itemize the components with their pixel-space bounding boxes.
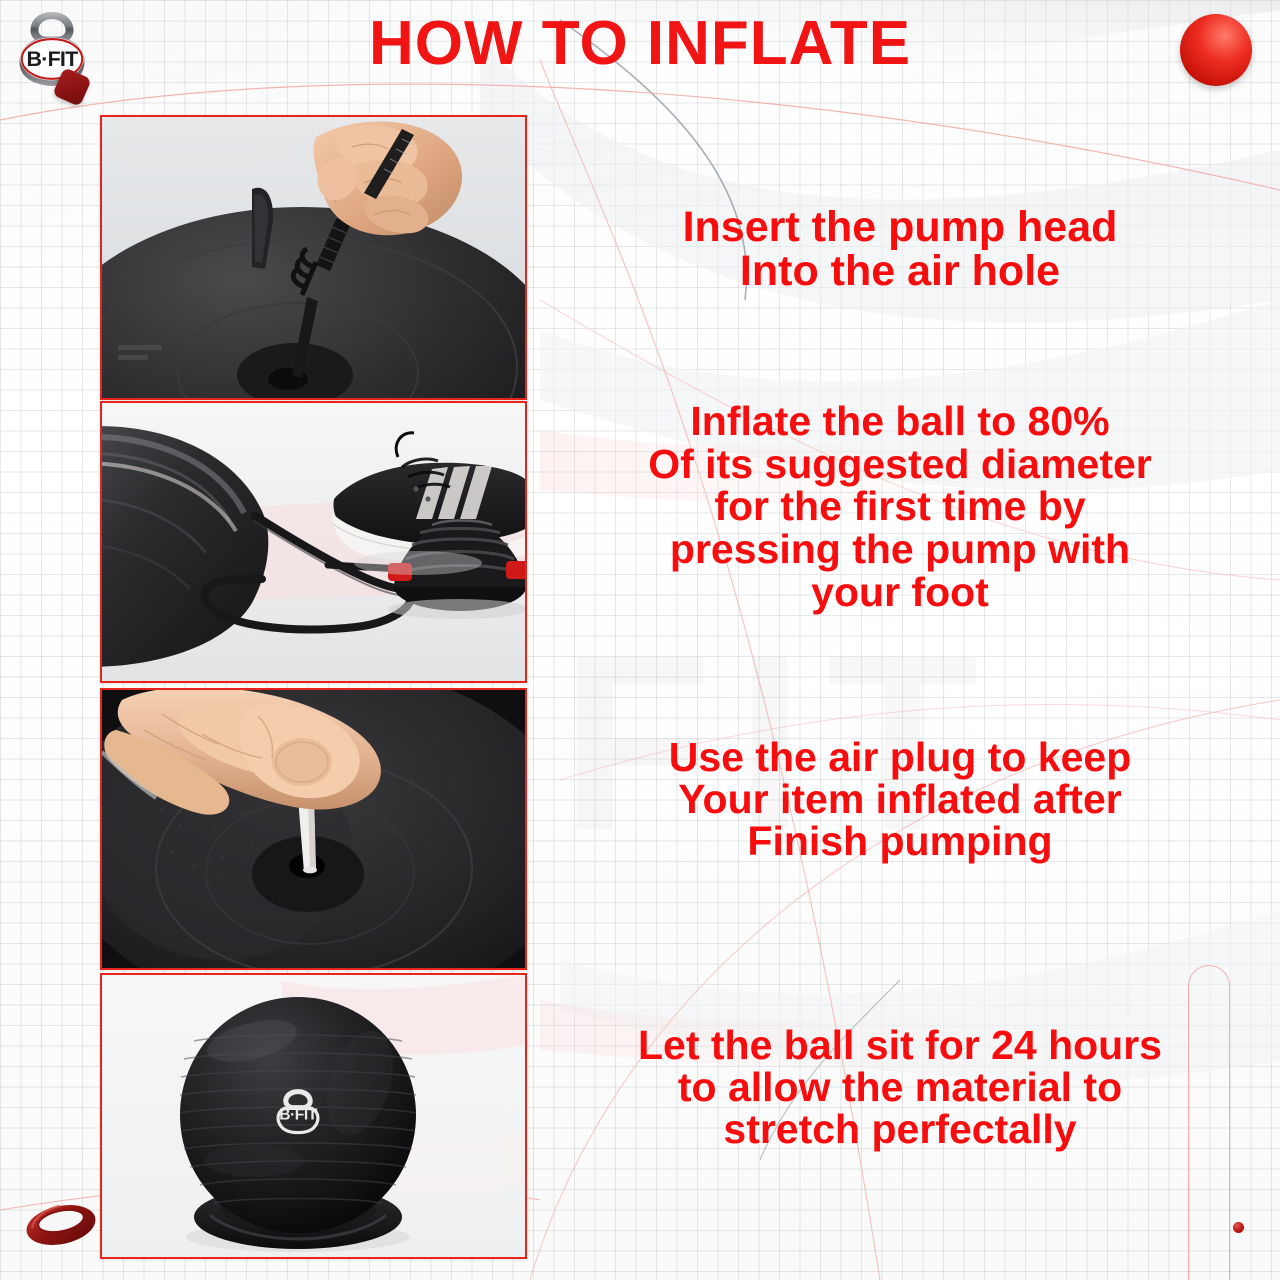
step-text-4: Let the ball sit for 24 hours to allow t… [545, 1025, 1255, 1150]
red-dot-decoration [1233, 1222, 1244, 1233]
step-text-3: Use the air plug to keep Your item infla… [545, 737, 1255, 862]
rounded-pill-outline-decoration [1188, 965, 1230, 1280]
red-sphere-decoration [1180, 14, 1252, 86]
step-text-1: Insert the pump head Into the air hole [545, 206, 1255, 294]
infographic-canvas: FIT B·FIT HOW TO INFLATE [0, 0, 1280, 1280]
step-photo-3 [100, 688, 527, 970]
step-photo-4: B·FIT [100, 973, 527, 1259]
step-photo-2 [100, 401, 527, 683]
step-text-2: Inflate the ball to 80% Of its suggested… [545, 400, 1255, 613]
page-title: HOW TO INFLATE [180, 8, 1100, 79]
bfit-logo: B·FIT [8, 8, 96, 86]
step-photo-1 [100, 115, 527, 400]
red-ring-decoration [24, 1200, 98, 1246]
svg-text:B·FIT: B·FIT [27, 47, 79, 71]
svg-text:B·FIT: B·FIT [279, 1106, 318, 1123]
kettlebell-icon: B·FIT [8, 8, 96, 86]
